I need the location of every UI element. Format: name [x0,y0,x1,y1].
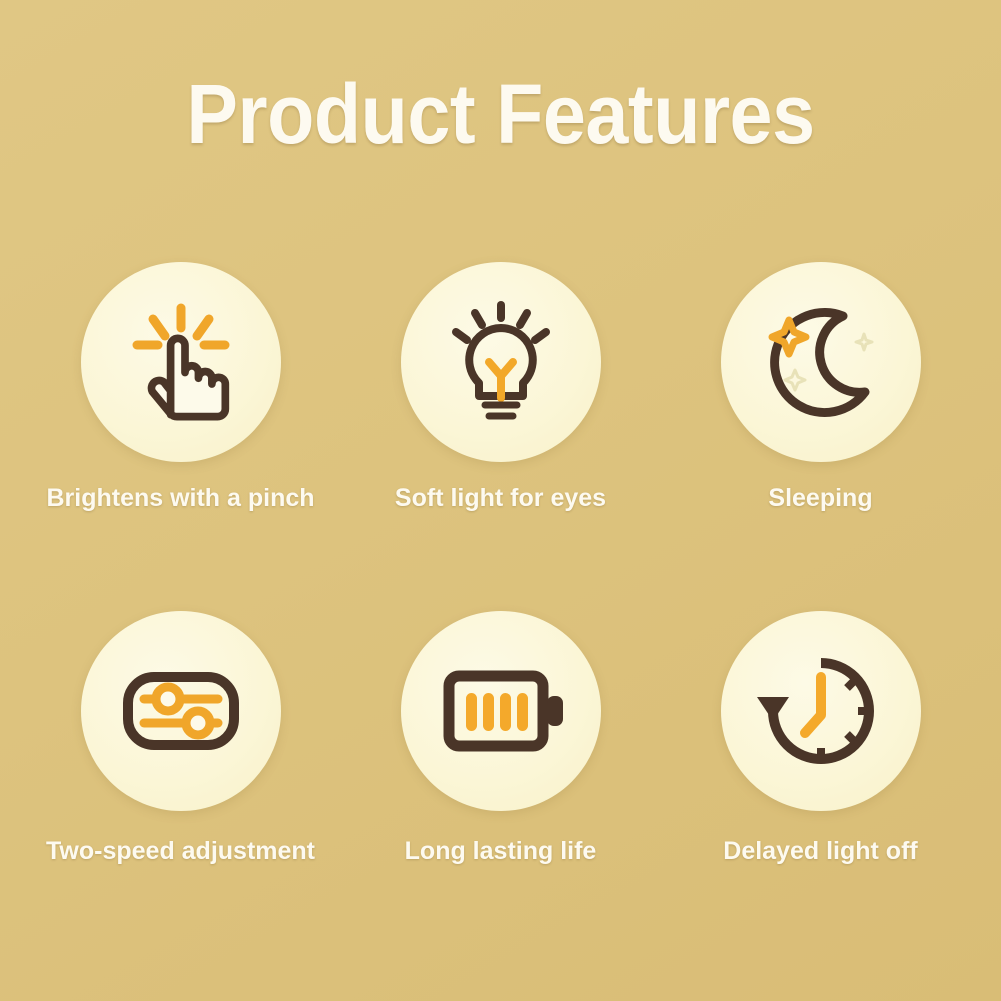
page-title: Product Features [40,72,961,156]
icon-circle [401,611,601,811]
features-row-bottom: Two-speed adjustment [0,611,1001,866]
feature-label: Two-speed adjustment [46,837,315,866]
features-grid: Brightens with a pinch [0,262,1001,866]
feature-card-soft-light-for-eyes[interactable]: Soft light for eyes [385,262,617,513]
feature-card-sleeping[interactable]: Sleeping [705,262,937,513]
sliders-icon [111,641,251,781]
feature-label: Delayed light off [723,837,917,866]
feature-label: Brightens with a pinch [46,484,314,513]
feature-card-brightens-with-a-pinch[interactable]: Brightens with a pinch [65,262,297,513]
timer-clock-icon [751,641,891,781]
icon-circle [81,262,281,462]
lightbulb-icon [431,292,571,432]
feature-label: Sleeping [768,484,872,513]
features-row-top: Brightens with a pinch [0,262,1001,513]
battery-icon [431,641,571,781]
feature-label: Long lasting life [405,837,597,866]
poster-canvas: Product Features [0,0,1001,1001]
feature-card-two-speed-adjustment[interactable]: Two-speed adjustment [65,611,297,866]
icon-circle [401,262,601,462]
crescent-moon-icon [751,292,891,432]
icon-circle [721,262,921,462]
icon-circle [721,611,921,811]
tap-hand-icon [111,292,251,432]
feature-label: Soft light for eyes [395,484,606,513]
feature-card-long-lasting-life[interactable]: Long lasting life [385,611,617,866]
icon-circle [81,611,281,811]
feature-card-delayed-light-off[interactable]: Delayed light off [705,611,937,866]
